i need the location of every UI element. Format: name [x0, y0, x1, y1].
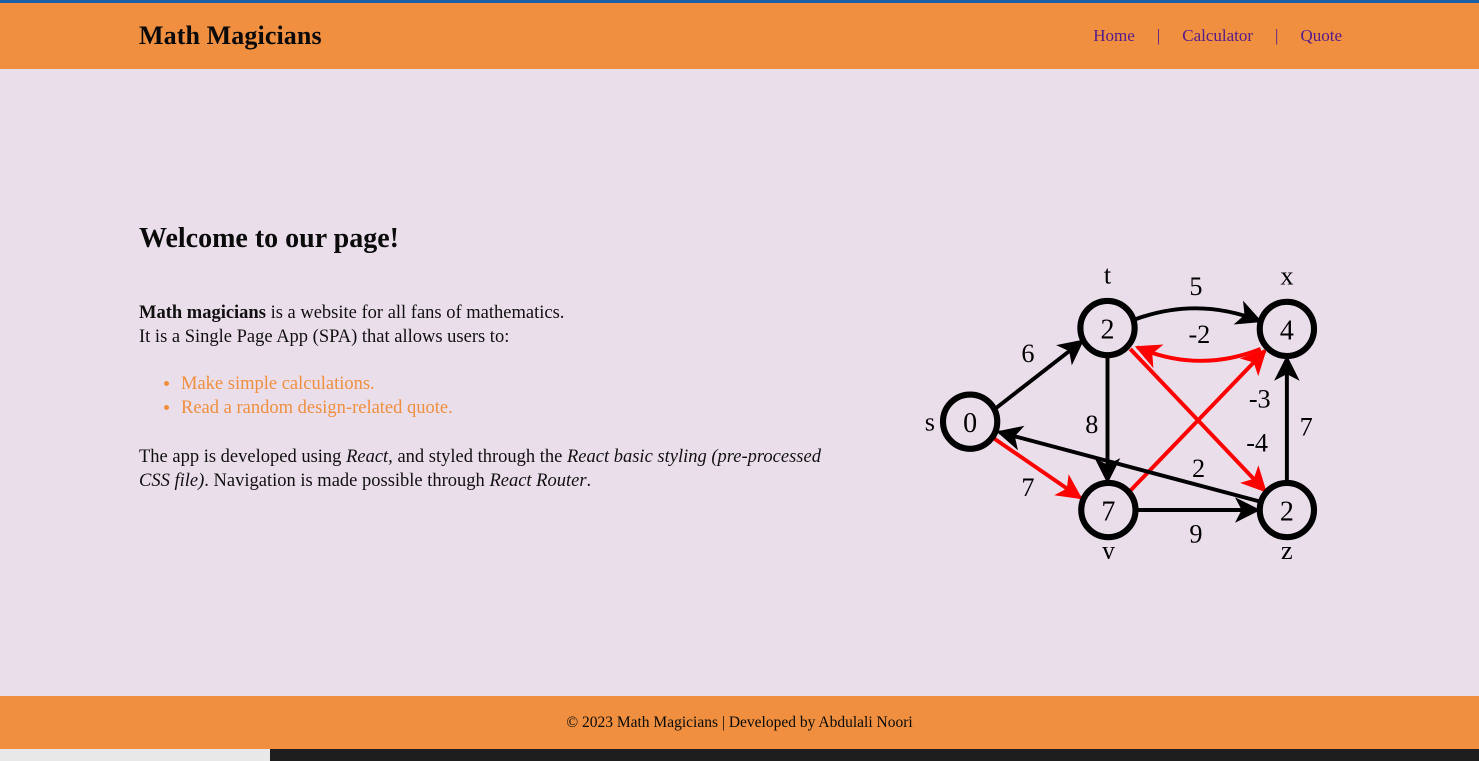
graph-nodes [943, 301, 1314, 537]
nav-separator-2: | [1253, 26, 1300, 46]
outro-text-2: and styled through the [393, 447, 567, 467]
node-x-label: x [1280, 261, 1293, 290]
edge-weight-y-x: -3 [1249, 385, 1271, 414]
outro-text-1: The app is developed using [139, 447, 346, 467]
shortest-path-graph-image: 0 2 4 7 2 s t x y z 6 7 5 8 [875, 209, 1375, 559]
outro-text-3: . Navigation is made possible through [204, 471, 489, 491]
node-t-value: 2 [1101, 315, 1115, 346]
main-navigation: Home | Calculator | Quote [1093, 26, 1342, 46]
footer-copyright-text: © 2023 Math Magicians | Developed by Abd… [566, 714, 912, 732]
app-page: Math Magicians Home | Calculator | Quote… [0, 0, 1479, 761]
edge-x-t [1137, 347, 1260, 361]
node-t-label: t [1104, 260, 1112, 289]
horizontal-scrollbar-thumb[interactable] [270, 749, 1479, 761]
edge-weight-t-y: 8 [1085, 410, 1098, 439]
node-s-value: 0 [963, 408, 977, 439]
list-item: Read a random design-related quote. [181, 396, 839, 421]
nav-link-home[interactable]: Home [1093, 26, 1135, 46]
graph-svg: 0 2 4 7 2 s t x y z 6 7 5 8 [875, 209, 1375, 559]
page-title: Welcome to our page! [139, 224, 839, 255]
site-footer: © 2023 Math Magicians | Developed by Abd… [0, 696, 1479, 749]
edge-s-y [994, 438, 1081, 498]
edge-s-t [996, 341, 1083, 408]
intro-rest-text: is a website for all fans of mathematics… [266, 303, 564, 323]
edge-weight-t-z: -4 [1246, 428, 1268, 457]
edge-weight-x-t: -2 [1188, 320, 1210, 349]
edge-weight-t-x: 5 [1189, 272, 1202, 301]
feature-list: Make simple calculations. Read a random … [139, 372, 839, 421]
outro-em-router: React Router [489, 471, 586, 491]
node-z-value: 2 [1280, 497, 1294, 528]
site-header: Math Magicians Home | Calculator | Quote [0, 3, 1479, 69]
nav-separator-1: | [1135, 26, 1182, 46]
edge-weight-y-z: 9 [1189, 519, 1202, 548]
edge-weight-s-y: 7 [1021, 473, 1034, 502]
edge-weight-z-s: 2 [1192, 454, 1205, 483]
node-z-label: z [1281, 536, 1293, 559]
tech-stack-paragraph: The app is developed using React, and st… [139, 445, 839, 494]
edge-weight-z-x: 7 [1300, 413, 1313, 442]
list-item: Make simple calculations. [181, 372, 839, 397]
feature-label-quote: Read a random design-related quote. [181, 398, 453, 418]
nav-link-calculator[interactable]: Calculator [1182, 26, 1253, 46]
node-y-value: 7 [1101, 497, 1115, 528]
site-logo-title: Math Magicians [139, 21, 322, 51]
node-x-value: 4 [1280, 315, 1294, 346]
node-y-label: y [1102, 536, 1116, 559]
intro-text-column: Welcome to our page! Math magicians is a… [139, 224, 839, 494]
intro-paragraph: Math magicians is a website for all fans… [139, 301, 839, 350]
feature-label-calculations: Make simple calculations. [181, 374, 375, 394]
nav-link-quote[interactable]: Quote [1300, 26, 1342, 46]
intro-second-line: It is a Single Page App (SPA) that allow… [139, 327, 509, 347]
outro-em-react: React, [346, 447, 393, 467]
outro-text-4: . [587, 471, 592, 491]
main-content: Welcome to our page! Math magicians is a… [0, 69, 1479, 696]
node-s-label: s [925, 407, 935, 436]
graph-edges [994, 308, 1287, 510]
edge-weight-s-t: 6 [1021, 339, 1034, 368]
intro-bold-term: Math magicians [139, 303, 266, 323]
